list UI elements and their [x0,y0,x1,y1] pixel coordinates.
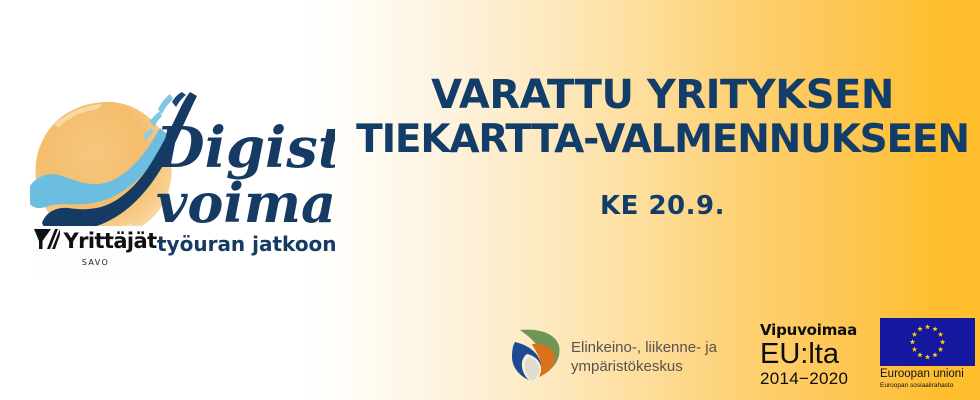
eu-subcaption: Euroopan sosiaalirahasto [880,382,980,389]
yrittajat-row: Yrittäjät [34,228,156,254]
yrittajat-wordmark: Yrittäjät [63,231,156,252]
vipuvoimaa-years: 2014−2020 [760,370,872,388]
vipuvoimaa-eu-line: EU:lta [760,340,872,370]
eu-emblem: Euroopan unioni Euroopan sosiaalirahasto [880,318,980,389]
headline-line-2: TIEKARTTA-VALMENNUKSEEN [345,118,980,163]
headline-line-1: VARATTU YRITYKSEN [345,72,980,118]
yrittajat-region-label: SAVO [82,258,109,267]
yrittajat-y-mark-icon [34,228,60,255]
eu-flag-icon [880,318,975,366]
footer-logo-strip: Elinkeino-, liikenne- ja ympäristökeskus… [505,316,980,396]
vipuvoimaa-eulta-logo: Vipuvoimaa EU:lta 2014−2020 [760,323,872,388]
script-line-2-text: voimaa [156,171,335,235]
eu-caption: Euroopan unioni [880,368,980,381]
brand-lockup: Yrittäjät SAVO Digistä voimaa työuran ja… [0,0,345,400]
script-tagline-text: työuran jatkoon [157,232,335,256]
ely-name-line-2: ympäristökeskus [571,358,683,375]
yrittajat-logo: Yrittäjät SAVO [33,226,158,278]
headline-block: VARATTU YRITYKSEN TIEKARTTA-VALMENNUKSEE… [345,72,980,221]
promo-banner: Yrittäjät SAVO Digistä voimaa työuran ja… [0,0,980,400]
digista-voimaa-script-logo: Digistä voimaa työuran jatkoon [150,105,335,260]
ely-leaf-icon [510,326,562,389]
ely-keskus-name: Elinkeino-, liikenne- ja ympäristökeskus [571,339,717,376]
ely-keskus-logo: Elinkeino-, liikenne- ja ympäristökeskus [510,326,717,389]
vipuvoimaa-title: Vipuvoimaa [760,323,872,339]
event-date: KE 20.9. [345,191,980,221]
ely-name-line-1: Elinkeino-, liikenne- ja [571,339,717,356]
